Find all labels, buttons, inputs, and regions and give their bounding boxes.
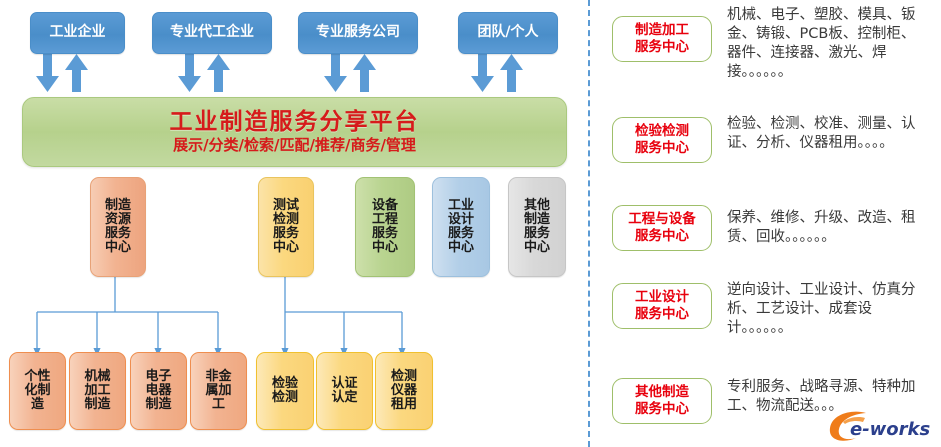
center-line: 服务 xyxy=(105,227,131,241)
panel-divider xyxy=(588,0,590,447)
platform-box[interactable]: 工业制造服务分享平台 展示/分类/检索/匹配/推荐/商务/管理 xyxy=(22,97,567,167)
legend-pill-line2: 服务中心 xyxy=(635,140,689,157)
testing-branch-lines xyxy=(285,277,402,352)
participant-label: 专业代工企业 xyxy=(170,25,254,40)
leaf-line: 电器 xyxy=(145,384,171,398)
legend-pill-line1: 检验检测 xyxy=(635,123,689,140)
legend-description-inspection: 检验、检测、校准、测量、认证、分析、仪器租用。。。。 xyxy=(727,115,927,153)
legend-pill-line2: 服务中心 xyxy=(635,306,689,323)
center-line: 服务 xyxy=(273,227,299,241)
leaf-line: 租用 xyxy=(391,398,417,412)
leaf-line: 检测 xyxy=(391,370,417,384)
leaf-line: 制造 xyxy=(145,398,171,412)
center-line: 工程 xyxy=(372,213,398,227)
legend-pill-line1: 制造加工 xyxy=(635,22,689,39)
legend-description-engineering: 保养、维修、升级、改造、租赁、回收。。。。。。 xyxy=(727,209,927,247)
legend-pill-manufacturing[interactable]: 制造加工 服务中心 xyxy=(612,16,712,62)
center-line: 其他 xyxy=(524,199,550,213)
participant-box-1[interactable]: 工业企业 xyxy=(30,12,125,54)
leaf-line: 工 xyxy=(212,398,225,412)
legend-pill-line2: 服务中心 xyxy=(635,401,689,418)
leaf-line: 造 xyxy=(31,398,44,412)
center-line: 中心 xyxy=(448,241,474,255)
legend-pill-line1: 工程与设备 xyxy=(628,211,696,228)
legend-row-1: 制造加工 服务中心 机械、电子、塑胶、模具、钣金、铸锻、PCB板、控制柜、器件、… xyxy=(612,16,932,83)
center-line: 服务 xyxy=(448,227,474,241)
legend-pill-line1: 其他制造 xyxy=(635,384,689,401)
legend-pill-line2: 服务中心 xyxy=(635,228,689,245)
participant-label: 团队/个人 xyxy=(477,25,538,40)
leaf-line: 非金 xyxy=(205,370,231,384)
participant-box-2[interactable]: 专业代工企业 xyxy=(152,12,272,54)
leaf-certification[interactable]: 认证 认定 xyxy=(316,352,373,430)
leaf-line: 电子 xyxy=(145,370,171,384)
center-line: 制造 xyxy=(524,213,550,227)
participant-label: 专业服务公司 xyxy=(316,25,400,40)
leaf-instrument-rental[interactable]: 检测 仪器 租用 xyxy=(375,352,433,430)
leaf-nonmetal[interactable]: 非金 属加 工 xyxy=(190,352,247,430)
legend-pill-other[interactable]: 其他制造 服务中心 xyxy=(612,378,712,424)
center-line: 服务 xyxy=(372,227,398,241)
participant-box-3[interactable]: 专业服务公司 xyxy=(298,12,418,54)
legend-row-2: 检验检测 服务中心 检验、检测、校准、测量、认证、分析、仪器租用。。。。 xyxy=(612,117,932,163)
manufacturing-branch-lines xyxy=(37,277,218,352)
legend-pill-engineering[interactable]: 工程与设备 服务中心 xyxy=(612,205,712,251)
leaf-line: 制造 xyxy=(84,398,110,412)
leaf-line: 检验 xyxy=(272,377,298,391)
participant-box-4[interactable]: 团队/个人 xyxy=(458,12,558,54)
center-line: 资源 xyxy=(105,213,131,227)
center-line: 服务 xyxy=(524,227,550,241)
center-line: 设备 xyxy=(372,199,398,213)
leaf-line: 加工 xyxy=(84,384,110,398)
center-line: 中心 xyxy=(524,241,550,255)
service-center-manufacturing[interactable]: 制造 资源 服务 中心 xyxy=(90,177,146,277)
legend-description-design: 逆向设计、工业设计、仿真分析、工艺设计、成套设计。。。。。。 xyxy=(727,281,927,338)
legend-pill-line1: 工业设计 xyxy=(635,289,689,306)
watermark-text: e-works xyxy=(850,419,931,440)
center-line: 中心 xyxy=(105,241,131,255)
service-center-design[interactable]: 工业 设计 服务 中心 xyxy=(432,177,490,277)
center-line: 测试 xyxy=(273,199,299,213)
legend-pill-design[interactable]: 工业设计 服务中心 xyxy=(612,283,712,329)
leaf-line: 属加 xyxy=(205,384,231,398)
participant-platform-arrows xyxy=(36,54,523,92)
service-center-testing[interactable]: 测试 检测 服务 中心 xyxy=(258,177,314,277)
center-line: 工业 xyxy=(448,199,474,213)
leaf-line: 化制 xyxy=(24,384,50,398)
leaf-line: 机械 xyxy=(84,370,110,384)
platform-title: 工业制造服务分享平台 xyxy=(170,110,420,135)
center-line: 中心 xyxy=(273,241,299,255)
leaf-inspection[interactable]: 检验 检测 xyxy=(256,352,314,430)
leaf-machining[interactable]: 机械 加工 制造 xyxy=(69,352,126,430)
service-center-equipment[interactable]: 设备 工程 服务 中心 xyxy=(355,177,415,277)
center-line: 设计 xyxy=(448,213,474,227)
leaf-line: 检测 xyxy=(272,391,298,405)
legend-description-manufacturing: 机械、电子、塑胶、模具、钣金、铸锻、PCB板、控制柜、器件、连接器、激光、焊接。… xyxy=(727,6,927,83)
leaf-line: 仪器 xyxy=(391,384,417,398)
leaf-line: 个性 xyxy=(24,370,50,384)
center-line: 制造 xyxy=(105,199,131,213)
platform-subtitle: 展示/分类/检索/匹配/推荐/商务/管理 xyxy=(173,137,416,153)
eworks-watermark-logo: e-works xyxy=(826,408,938,442)
leaf-line: 认证 xyxy=(331,377,357,391)
service-center-other[interactable]: 其他 制造 服务 中心 xyxy=(508,177,566,277)
legend-pill-line2: 服务中心 xyxy=(635,39,689,56)
legend-row-4: 工业设计 服务中心 逆向设计、工业设计、仿真分析、工艺设计、成套设计。。。。。。 xyxy=(612,283,932,338)
leaf-electronics[interactable]: 电子 电器 制造 xyxy=(130,352,187,430)
participant-label: 工业企业 xyxy=(50,25,106,40)
leaf-line: 认定 xyxy=(331,391,357,405)
leaf-custom-manufacturing[interactable]: 个性 化制 造 xyxy=(9,352,66,430)
legend-row-3: 工程与设备 服务中心 保养、维修、升级、改造、租赁、回收。。。。。。 xyxy=(612,205,932,251)
center-line: 中心 xyxy=(372,241,398,255)
center-line: 检测 xyxy=(273,213,299,227)
legend-pill-inspection[interactable]: 检验检测 服务中心 xyxy=(612,117,712,163)
diagram-root: 工业企业 专业代工企业 专业服务公司 团队/个人 工业制造服务分享平台 展示/分… xyxy=(0,0,941,447)
